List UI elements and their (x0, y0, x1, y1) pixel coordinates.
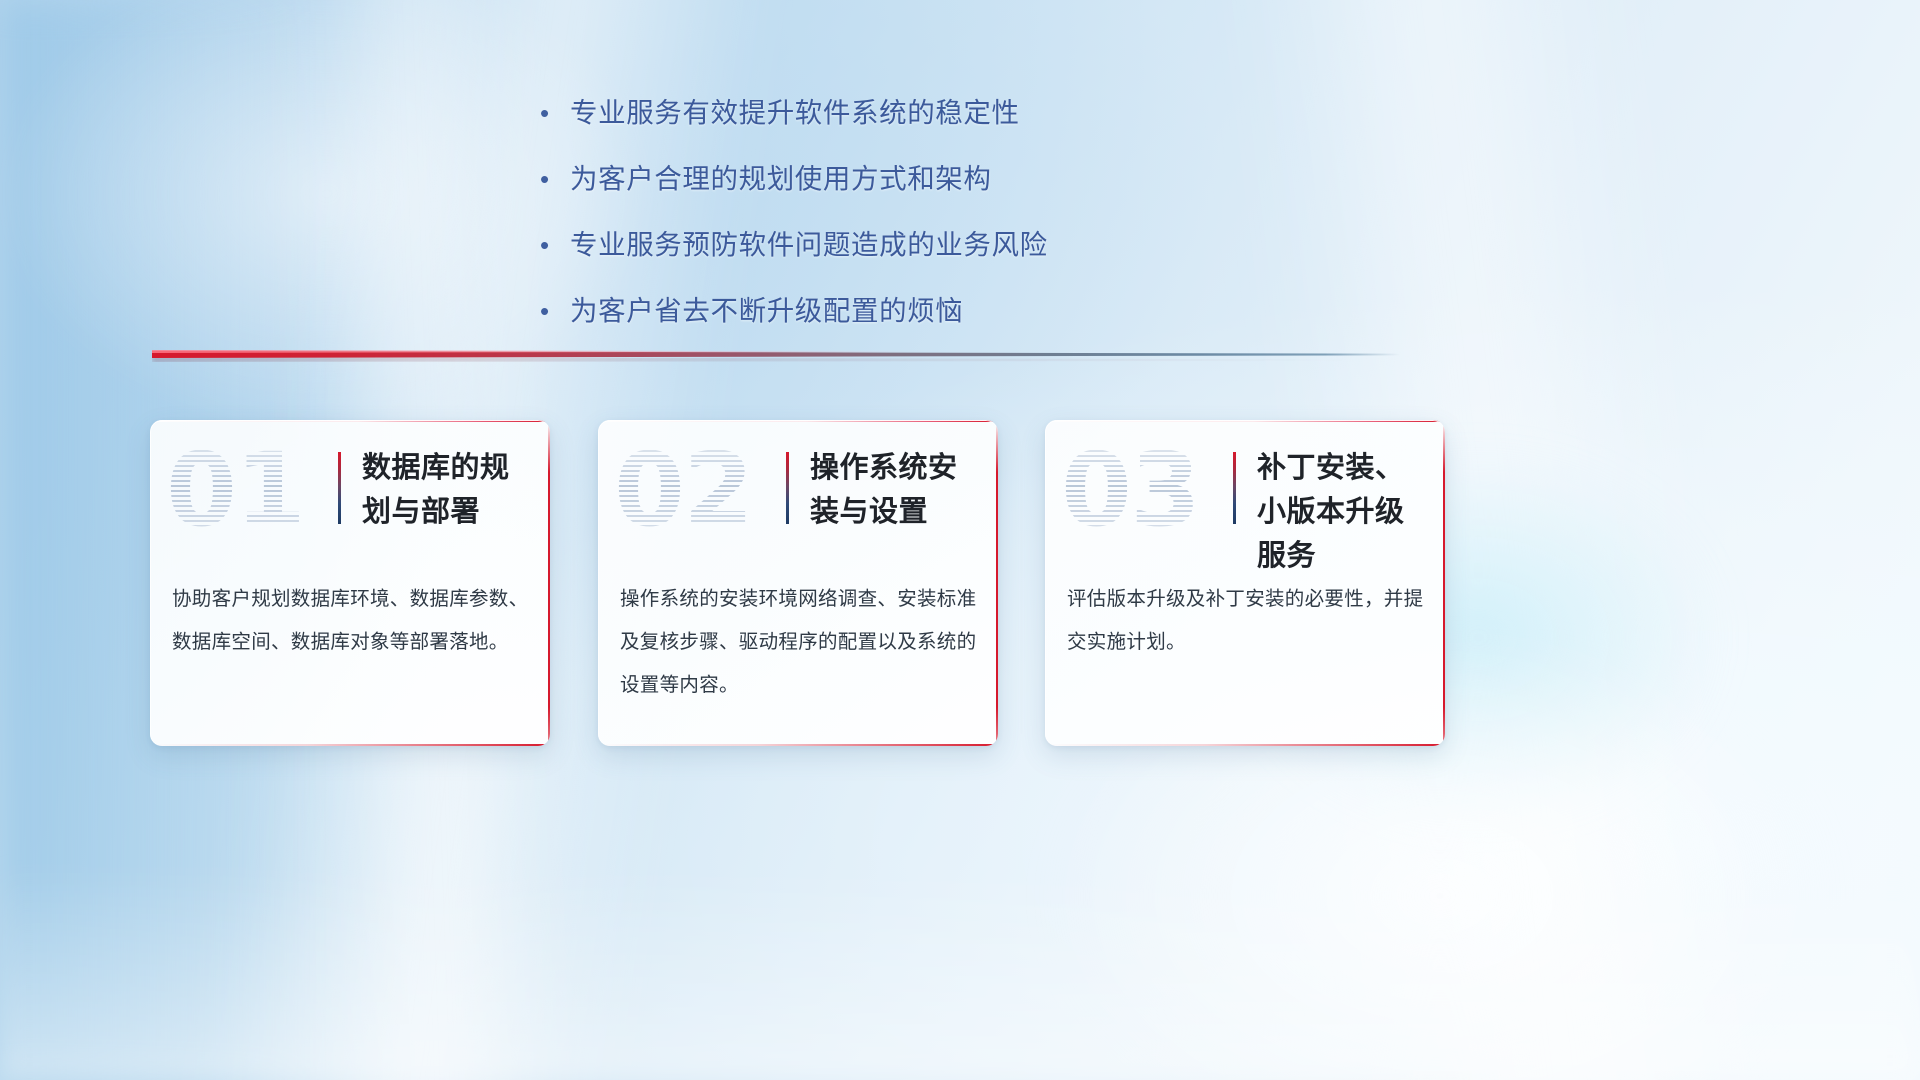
bullet-point-icon: • (540, 220, 570, 270)
divider-shadow (152, 357, 1350, 362)
card-bottom-accent (1045, 744, 1445, 746)
card-header: 03 补丁安装、小版本升级服务 (1045, 420, 1445, 540)
service-card[interactable]: 02 操作系统安装与设置 操作系统的安装环境网络调查、安装标准及复核步骤、驱动程… (598, 420, 998, 746)
card-bottom-accent (150, 744, 550, 746)
bullet-point-icon: • (540, 286, 570, 336)
bullet-text: 为客户省去不断升级配置的烦恼 (570, 286, 963, 336)
card-title: 数据库的规划与部署 (362, 446, 536, 534)
card-description: 评估版本升级及补丁安装的必要性，并提交实施计划。 (1067, 578, 1427, 664)
card-description: 协助客户规划数据库环境、数据库参数、数据库空间、数据库对象等部署落地。 (172, 578, 532, 664)
list-item: • 专业服务预防软件问题造成的业务风险 (540, 220, 1540, 270)
bullet-text: 专业服务预防软件问题造成的业务风险 (570, 220, 1048, 270)
service-card[interactable]: 01 数据库的规划与部署 协助客户规划数据库环境、数据库参数、数据库空间、数据库… (150, 420, 550, 746)
benefits-bullet-list: • 专业服务有效提升软件系统的稳定性 • 为客户合理的规划使用方式和架构 • 专… (540, 88, 1540, 352)
card-divider-bar (786, 452, 789, 524)
bullet-text: 专业服务有效提升软件系统的稳定性 (570, 88, 1020, 138)
card-index-number: 02 (614, 440, 752, 542)
card-index-number: 01 (166, 440, 304, 542)
card-header: 02 操作系统安装与设置 (598, 420, 998, 540)
list-item: • 为客户省去不断升级配置的烦恼 (540, 286, 1540, 336)
card-index-number: 03 (1061, 440, 1199, 542)
bullet-point-icon: • (540, 154, 570, 204)
section-divider (152, 348, 1400, 362)
card-bottom-accent (598, 744, 998, 746)
card-description: 操作系统的安装环境网络调查、安装标准及复核步骤、驱动程序的配置以及系统的设置等内… (620, 578, 980, 707)
bullet-text: 为客户合理的规划使用方式和架构 (570, 154, 992, 204)
list-item: • 专业服务有效提升软件系统的稳定性 (540, 88, 1540, 138)
card-header: 01 数据库的规划与部署 (150, 420, 550, 540)
card-divider-bar (338, 452, 341, 524)
card-title: 补丁安装、小版本升级服务 (1257, 446, 1431, 578)
list-item: • 为客户合理的规划使用方式和架构 (540, 154, 1540, 204)
service-card[interactable]: 03 补丁安装、小版本升级服务 评估版本升级及补丁安装的必要性，并提交实施计划。 (1045, 420, 1445, 746)
card-divider-bar (1233, 452, 1236, 524)
bullet-point-icon: • (540, 88, 570, 138)
service-card-group: 01 数据库的规划与部署 协助客户规划数据库环境、数据库参数、数据库空间、数据库… (150, 420, 1770, 750)
card-title: 操作系统安装与设置 (810, 446, 984, 534)
